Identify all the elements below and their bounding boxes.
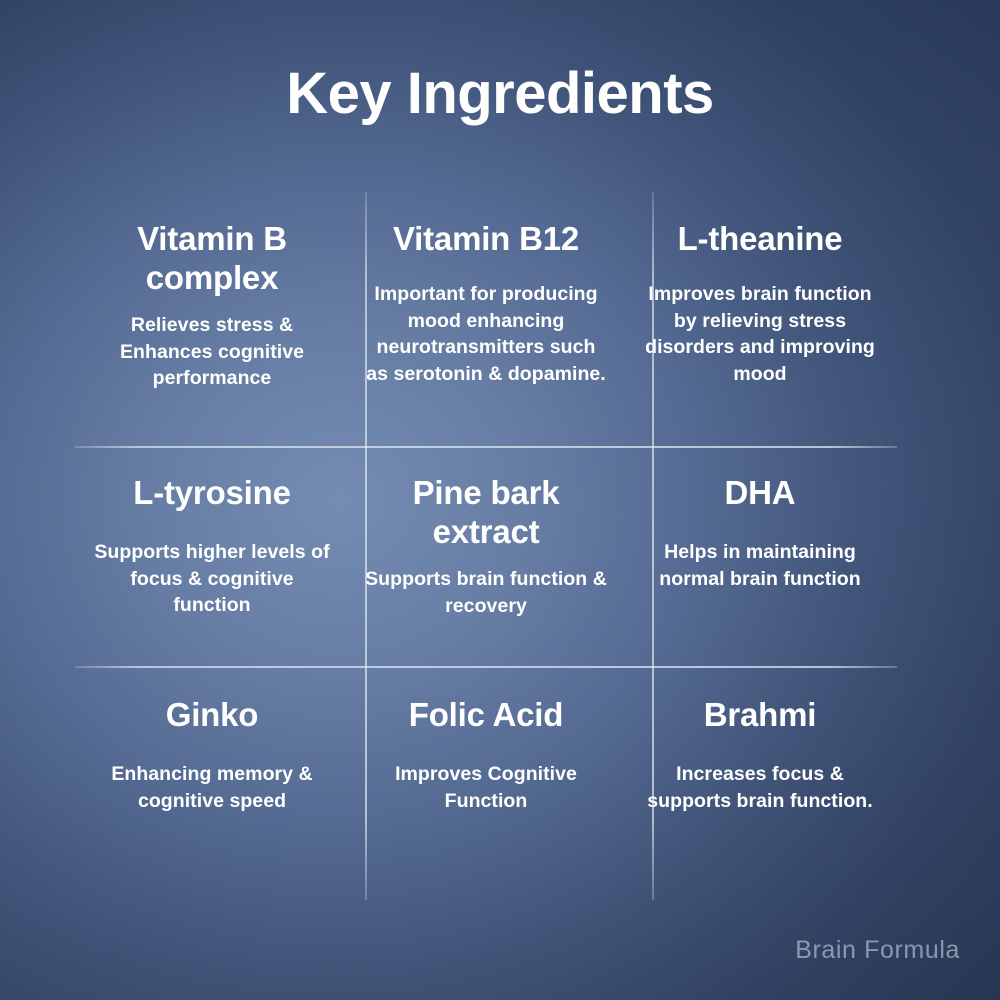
page-title: Key Ingredients	[0, 62, 1000, 126]
ingredient-cell-vitamin-b12: Vitamin B12 Important for producing mood…	[349, 192, 623, 446]
ingredient-name: Ginko	[166, 696, 259, 735]
ingredient-name: L-theanine	[678, 220, 843, 259]
ingredient-cell-ginko: Ginko Enhancing memory & cognitive speed	[75, 666, 349, 900]
ingredient-description: Supports brain function & recovery	[363, 566, 609, 619]
ingredient-name: Vitamin B complex	[89, 220, 335, 298]
ingredient-name: Pine bark extract	[363, 474, 609, 552]
ingredient-cell-l-tyrosine: L-tyrosine Supports higher levels of foc…	[75, 446, 349, 666]
ingredient-cell-folic-acid: Folic Acid Improves Cognitive Function	[349, 666, 623, 900]
key-ingredients-poster: Key Ingredients Vitamin B complex Reliev…	[0, 0, 1000, 1000]
ingredient-description: Relieves stress & Enhances cognitive per…	[89, 312, 335, 392]
ingredient-description: Increases focus & supports brain functio…	[637, 761, 883, 814]
ingredient-name: Brahmi	[704, 696, 817, 735]
ingredient-description: Enhancing memory & cognitive speed	[89, 761, 335, 814]
ingredient-name: DHA	[725, 474, 796, 513]
ingredient-cell-brahmi: Brahmi Increases focus & supports brain …	[623, 666, 897, 900]
ingredient-name: Vitamin B12	[393, 220, 579, 259]
ingredient-description: Improves brain function by relieving str…	[637, 281, 883, 388]
ingredient-cell-l-theanine: L-theanine Improves brain function by re…	[623, 192, 897, 446]
brand-watermark: Brain Formula	[795, 936, 960, 965]
ingredients-grid: Vitamin B complex Relieves stress & Enha…	[75, 192, 897, 900]
ingredient-description: Improves Cognitive Function	[363, 761, 609, 814]
ingredient-name: L-tyrosine	[133, 474, 291, 513]
ingredient-cell-vitamin-b-complex: Vitamin B complex Relieves stress & Enha…	[75, 192, 349, 446]
ingredient-cell-pine-bark-extract: Pine bark extract Supports brain functio…	[349, 446, 623, 666]
ingredient-description: Supports higher levels of focus & cognit…	[89, 539, 335, 619]
ingredient-name: Folic Acid	[409, 696, 563, 735]
ingredient-description: Important for producing mood enhancing n…	[363, 281, 609, 388]
ingredient-description: Helps in maintaining normal brain functi…	[637, 539, 883, 592]
ingredient-cell-dha: DHA Helps in maintaining normal brain fu…	[623, 446, 897, 666]
